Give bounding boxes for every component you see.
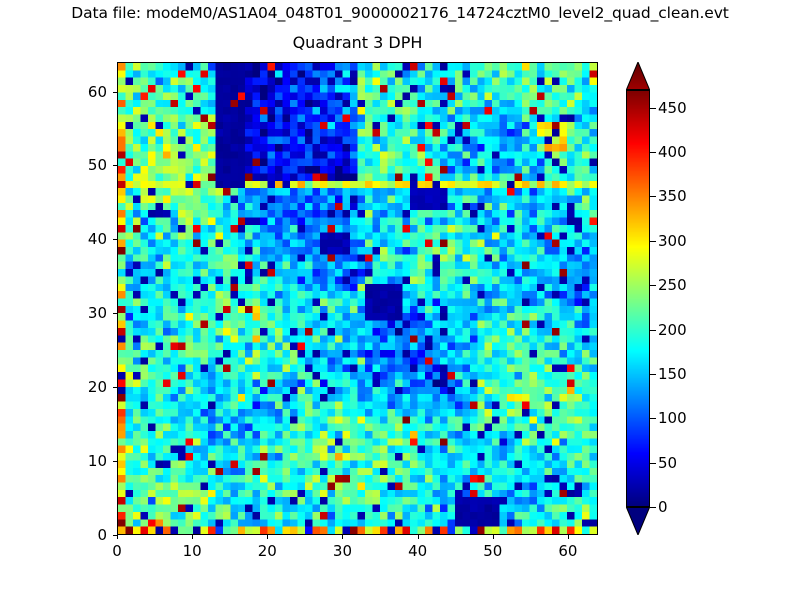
colorbar-tick-label: 0 (658, 498, 668, 516)
colorbar-tick-mark (650, 152, 656, 153)
colorbar-under-arrow (626, 507, 650, 535)
y-tick-label: 10 (61, 452, 107, 470)
colorbar-tick-label: 400 (658, 143, 687, 161)
colorbar[interactable] (626, 90, 650, 507)
x-tick-mark (568, 535, 569, 539)
colorbar-tick-mark (650, 418, 656, 419)
x-tick-label: 10 (172, 542, 212, 560)
colorbar-tick-label: 50 (658, 454, 677, 472)
colorbar-tick-mark (650, 108, 656, 109)
y-tick-label: 50 (61, 156, 107, 174)
colorbar-tick-label: 350 (658, 187, 687, 205)
colorbar-tick-mark (650, 330, 656, 331)
x-tick-label: 20 (247, 542, 287, 560)
x-tick-mark (342, 535, 343, 539)
heatmap-image (118, 63, 597, 534)
x-tick-mark (493, 535, 494, 539)
colorbar-tick-label: 150 (658, 365, 687, 383)
y-tick-mark (113, 239, 117, 240)
colorbar-gradient (627, 91, 649, 506)
x-tick-mark (418, 535, 419, 539)
data-file-suptitle: Data file: modeM0/AS1A04_048T01_90000021… (0, 4, 800, 22)
colorbar-tick-label: 250 (658, 276, 687, 294)
figure-canvas: Data file: modeM0/AS1A04_048T01_90000021… (0, 0, 800, 600)
colorbar-tick-label: 450 (658, 99, 687, 117)
page-title: Quadrant 3 DPH (117, 33, 598, 52)
x-tick-mark (117, 535, 118, 539)
colorbar-tick-mark (650, 507, 656, 508)
x-tick-mark (192, 535, 193, 539)
colorbar-tick-label: 200 (658, 321, 687, 339)
colorbar-tick-mark (650, 285, 656, 286)
x-tick-label: 30 (322, 542, 362, 560)
x-tick-label: 0 (97, 542, 137, 560)
y-tick-mark (113, 313, 117, 314)
colorbar-tick-mark (650, 196, 656, 197)
y-tick-mark (113, 92, 117, 93)
colorbar-over-arrow (626, 62, 650, 90)
colorbar-tick-label: 100 (658, 409, 687, 427)
x-tick-label: 60 (548, 542, 588, 560)
y-tick-mark (113, 461, 117, 462)
y-tick-mark (113, 165, 117, 166)
y-tick-mark (113, 387, 117, 388)
y-tick-label: 30 (61, 304, 107, 322)
colorbar-tick-mark (650, 374, 656, 375)
heatmap-axes[interactable] (117, 62, 598, 535)
y-tick-mark (113, 535, 117, 536)
x-tick-label: 50 (473, 542, 513, 560)
colorbar-tick-mark (650, 241, 656, 242)
colorbar-tick-label: 300 (658, 232, 687, 250)
x-tick-mark (267, 535, 268, 539)
colorbar-tick-mark (650, 463, 656, 464)
y-tick-label: 60 (61, 83, 107, 101)
y-tick-label: 0 (61, 526, 107, 544)
x-tick-label: 40 (398, 542, 438, 560)
y-tick-label: 40 (61, 230, 107, 248)
y-tick-label: 20 (61, 378, 107, 396)
